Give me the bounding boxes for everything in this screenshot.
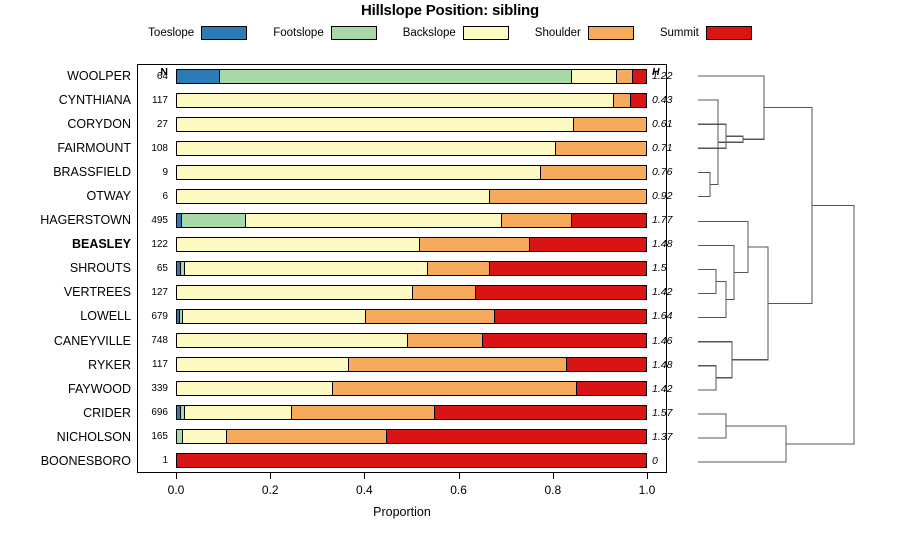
legend: ToeslopeFootslopeBackslopeShoulderSummit — [0, 26, 900, 40]
row-entropy: 0.43 — [652, 94, 686, 106]
legend-item-label: Backslope — [403, 27, 456, 39]
bar-segment-backslope — [571, 70, 616, 83]
bar-segment-backslope — [177, 358, 348, 371]
bar-segment-backslope — [182, 430, 227, 443]
row-entropy: 1.46 — [652, 335, 686, 347]
bar-segment-backslope — [177, 94, 613, 107]
dendrogram — [686, 64, 900, 473]
bar-segment-summit — [566, 358, 646, 371]
bar-segment-shoulder — [419, 238, 529, 251]
row-count: 27 — [137, 119, 168, 130]
stacked-bar[interactable] — [176, 453, 647, 468]
bar-segment-footslope — [219, 70, 571, 83]
row-count: 65 — [137, 263, 168, 274]
bar-segment-shoulder — [555, 142, 646, 155]
bar-segment-summit — [632, 70, 646, 83]
bar-segment-summit — [576, 382, 646, 395]
stacked-bar[interactable] — [176, 405, 647, 420]
legend-item-label: Footslope — [273, 27, 324, 39]
bar-segment-shoulder — [573, 118, 646, 131]
row-label: BRASSFIELD — [0, 165, 131, 179]
legend-swatch-backslope — [463, 26, 509, 40]
row-count: 9 — [137, 167, 168, 178]
bar-segment-summit — [571, 214, 646, 227]
legend-swatch-summit — [706, 26, 752, 40]
row-label: LOWELL — [0, 309, 131, 323]
bar-segment-shoulder — [291, 406, 434, 419]
row-entropy: 1.57 — [652, 407, 686, 419]
stacked-bar[interactable] — [176, 117, 647, 132]
bar-segment-summit — [494, 310, 646, 323]
row-entropy: 1.42 — [652, 383, 686, 395]
chart-root: Hillslope Position: sibling ToeslopeFoot… — [0, 0, 900, 540]
legend-swatch-toeslope — [201, 26, 247, 40]
legend-item-backslope[interactable]: Backslope — [403, 26, 509, 40]
x-axis-label: Proportion — [137, 505, 667, 519]
row-count: 122 — [137, 239, 168, 250]
x-tick-label: 0.2 — [262, 483, 279, 497]
row-entropy: 0.76 — [652, 166, 686, 178]
stacked-bar[interactable] — [176, 237, 647, 252]
bar-segment-summit — [529, 238, 646, 251]
row-label: WOOLPER — [0, 69, 131, 83]
row-entropy: 0.71 — [652, 142, 686, 154]
bar-segment-backslope — [182, 310, 365, 323]
bar-segment-backslope — [177, 238, 419, 251]
row-label: CYNTHIANA — [0, 93, 131, 107]
row-entropy: 0.92 — [652, 190, 686, 202]
bar-segment-backslope — [177, 166, 540, 179]
row-entropy: 1.5 — [652, 262, 686, 274]
bar-segment-shoulder — [427, 262, 488, 275]
bar-segment-backslope — [177, 334, 407, 347]
row-entropy: 1.22 — [652, 70, 686, 82]
x-tick-mark — [553, 473, 554, 479]
row-count: 748 — [137, 335, 168, 346]
row-entropy: 1.48 — [652, 359, 686, 371]
bar-segment-shoulder — [489, 190, 646, 203]
legend-swatch-footslope — [331, 26, 377, 40]
row-label: VERTREES — [0, 285, 131, 299]
row-label: NICHOLSON — [0, 430, 131, 444]
row-entropy: 0.61 — [652, 118, 686, 130]
row-count: 117 — [137, 95, 168, 106]
row-label: CANEYVILLE — [0, 334, 131, 348]
bar-segment-backslope — [177, 286, 412, 299]
bar-segment-summit — [386, 430, 646, 443]
row-label: FAYWOOD — [0, 382, 131, 396]
row-label: RYKER — [0, 358, 131, 372]
legend-item-toeslope[interactable]: Toeslope — [148, 26, 247, 40]
stacked-bar[interactable] — [176, 213, 647, 228]
stacked-bar[interactable] — [176, 189, 647, 204]
bar-segment-backslope — [177, 190, 489, 203]
x-tick-label: 0.0 — [168, 483, 185, 497]
legend-item-shoulder[interactable]: Shoulder — [535, 26, 634, 40]
bar-segment-shoulder — [613, 94, 629, 107]
row-count: 679 — [137, 311, 168, 322]
row-count: 64 — [137, 71, 168, 82]
x-tick-mark — [647, 473, 648, 479]
legend-item-summit[interactable]: Summit — [660, 26, 752, 40]
row-label: BOONESBORO — [0, 454, 131, 468]
row-count: 6 — [137, 191, 168, 202]
row-count: 108 — [137, 143, 168, 154]
bar-segment-summit — [489, 262, 646, 275]
bar-segment-footslope — [181, 214, 245, 227]
x-tick-label: 0.8 — [544, 483, 561, 497]
legend-item-label: Shoulder — [535, 27, 581, 39]
bar-segment-shoulder — [616, 70, 632, 83]
bar-segment-shoulder — [540, 166, 646, 179]
x-tick-mark — [364, 473, 365, 479]
bar-segment-summit — [630, 94, 646, 107]
bar-segment-shoulder — [226, 430, 385, 443]
row-label: SHROUTS — [0, 261, 131, 275]
bar-segment-summit — [475, 286, 646, 299]
bar-segment-shoulder — [412, 286, 475, 299]
row-entropy: 1.42 — [652, 286, 686, 298]
row-label: BEASLEY — [0, 237, 131, 251]
row-label: OTWAY — [0, 189, 131, 203]
x-tick-mark — [459, 473, 460, 479]
row-count: 495 — [137, 215, 168, 226]
x-axis: Proportion 0.00.20.40.60.81.0 — [0, 473, 900, 533]
row-label: HAGERSTOWN — [0, 213, 131, 227]
row-count: 117 — [137, 359, 168, 370]
x-tick-mark — [176, 473, 177, 479]
stacked-bar[interactable] — [176, 141, 647, 156]
row-entropy: 1.37 — [652, 431, 686, 443]
bar-segment-backslope — [184, 406, 292, 419]
stacked-bar[interactable] — [176, 357, 647, 372]
x-tick-mark — [270, 473, 271, 479]
page-title: Hillslope Position: sibling — [0, 2, 900, 19]
bar-segment-summit — [177, 454, 646, 467]
row-entropy: 1.48 — [652, 238, 686, 250]
stacked-bar[interactable] — [176, 285, 647, 300]
x-tick-label: 0.6 — [450, 483, 467, 497]
bar-segment-backslope — [177, 382, 332, 395]
stacked-bar[interactable] — [176, 429, 647, 444]
row-count: 165 — [137, 431, 168, 442]
bar-segment-backslope — [184, 262, 428, 275]
bar-segment-backslope — [245, 214, 501, 227]
bar-segment-backslope — [177, 142, 555, 155]
bar-segment-backslope — [177, 118, 573, 131]
bar-segment-shoulder — [365, 310, 494, 323]
legend-item-label: Toeslope — [148, 27, 194, 39]
legend-item-label: Summit — [660, 27, 699, 39]
bar-segment-shoulder — [407, 334, 482, 347]
x-tick-label: 0.4 — [356, 483, 373, 497]
stacked-bar[interactable] — [176, 381, 647, 396]
bar-segment-shoulder — [501, 214, 571, 227]
bar-segment-shoulder — [332, 382, 576, 395]
stacked-bar[interactable] — [176, 93, 647, 108]
row-entropy: 1.64 — [652, 310, 686, 322]
row-label: CRIDER — [0, 406, 131, 420]
row-entropy: 1.77 — [652, 214, 686, 226]
stacked-bar[interactable] — [176, 69, 647, 84]
stacked-bar[interactable] — [176, 165, 647, 180]
stacked-bar[interactable] — [176, 333, 647, 348]
legend-swatch-shoulder — [588, 26, 634, 40]
row-count: 127 — [137, 287, 168, 298]
legend-item-footslope[interactable]: Footslope — [273, 26, 377, 40]
bar-segment-toeslope — [177, 70, 219, 83]
row-count: 1 — [137, 455, 168, 466]
row-entropy: 0 — [652, 455, 686, 467]
stacked-bar[interactable] — [176, 261, 647, 276]
bar-segment-summit — [482, 334, 646, 347]
row-label: CORYDON — [0, 117, 131, 131]
row-count: 339 — [137, 383, 168, 394]
row-label: FAIRMOUNT — [0, 141, 131, 155]
row-count: 696 — [137, 407, 168, 418]
dendrogram-svg — [686, 64, 900, 473]
bar-segment-summit — [434, 406, 646, 419]
x-tick-label: 1.0 — [639, 483, 656, 497]
bar-segment-shoulder — [348, 358, 566, 371]
stacked-bar[interactable] — [176, 309, 647, 324]
